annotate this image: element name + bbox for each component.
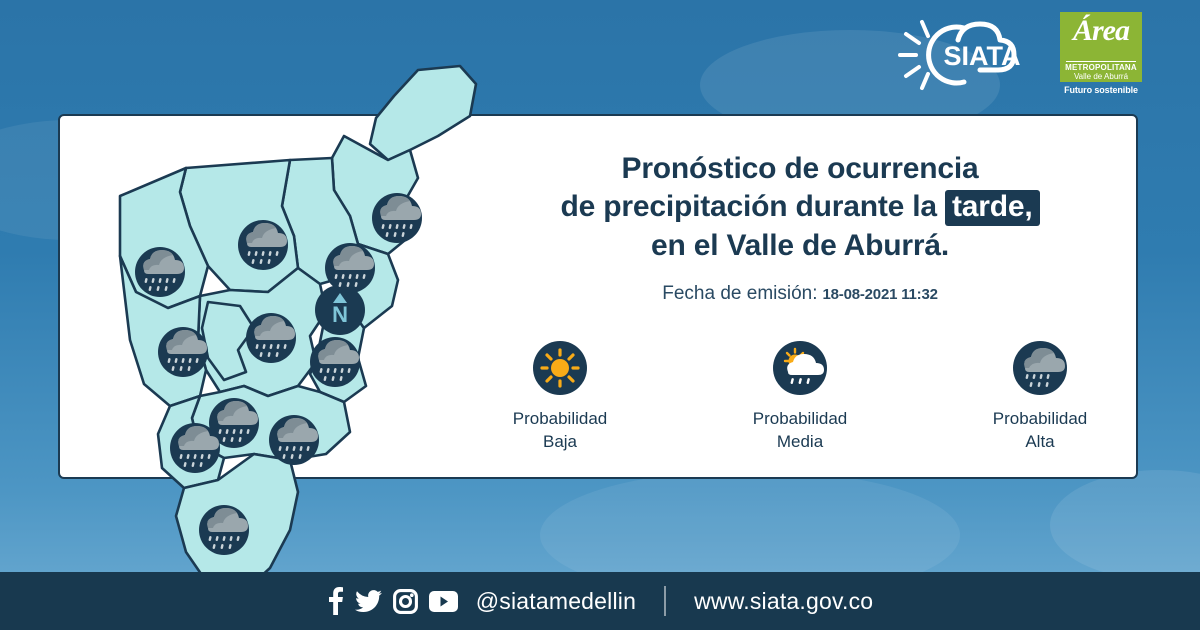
valle-de-aburra-map: N [58,40,478,600]
footer-divider [664,586,666,616]
social-icon-group [327,587,458,615]
map-marker-caldas [199,505,249,555]
probability-legend: Probabilidad Baja [490,341,1110,454]
map-marker-medellin [246,313,296,363]
title-line-1: Pronóstico de ocurrencia [490,150,1110,188]
logo-group: SIATA Área METROPOLITANA Valle de Aburrá… [894,12,1142,98]
legend-item-media: Probabilidad Media [730,341,870,454]
siata-sun-cloud-icon: SIATA [894,12,1044,98]
forecast-content: Pronóstico de ocurrencia de precipitació… [490,150,1110,454]
am-script-text: Área [1060,14,1142,48]
map-marker-la-estrella [170,423,220,473]
am-line1: METROPOLITANA [1060,63,1142,72]
issue-date: Fecha de emisión:18-08-2021 11:32 [490,283,1110,305]
map-marker-sabaneta [269,415,319,465]
sun-icon [533,341,587,395]
social-handle[interactable]: @siatamedellin [476,588,636,615]
compass-north: N [315,285,365,335]
title-line-2-text: de precipitación durante la [561,190,946,223]
rain-cloud-icon [1013,341,1067,395]
title-line-2: de precipitación durante la tarde, [490,188,1110,226]
siata-wordmark: SIATA [944,41,1021,71]
legend-label-alta: Probabilidad Alta [970,408,1110,454]
infographic-canvas: SIATA Área METROPOLITANA Valle de Aburrá… [0,0,1200,630]
map-marker-san-jeronimo [158,327,208,377]
legend-label-media: Probabilidad Media [730,408,870,454]
sky-cloud-decor-4 [1050,470,1200,580]
am-tagline: Futuro sostenible [1060,85,1142,95]
legend-baja-line2: Baja [490,431,630,454]
map-marker-copacabana [325,243,375,293]
siata-logo: SIATA [894,12,1044,98]
legend-item-alta: Probabilidad Alta [970,341,1110,454]
youtube-icon[interactable] [429,591,458,612]
compass-label: N [332,302,348,327]
period-highlight: tarde, [945,190,1040,226]
page-title: Pronóstico de ocurrencia de precipitació… [490,150,1110,265]
issue-date-label: Fecha de emisión: [662,283,817,304]
twitter-icon[interactable] [355,590,382,613]
map-marker-envigado [310,337,360,387]
footer-bar: @siatamedellin www.siata.gov.co [0,572,1200,630]
legend-baja-line1: Probabilidad [490,408,630,431]
am-divider [1066,61,1136,62]
sun-rain-cloud-icon [773,341,827,395]
am-green-box: Área METROPOLITANA Valle de Aburrá [1060,12,1142,82]
legend-alta-line1: Probabilidad [970,408,1110,431]
instagram-icon[interactable] [393,589,418,614]
title-line-3: en el Valle de Aburrá. [490,227,1110,265]
legend-media-line2: Media [730,431,870,454]
am-line2: Valle de Aburrá [1060,72,1142,81]
legend-label-baja: Probabilidad Baja [490,408,630,454]
legend-alta-line2: Alta [970,431,1110,454]
map-marker-bello [238,220,288,270]
map-marker-girardota [372,193,422,243]
legend-item-baja: Probabilidad Baja [490,341,630,454]
legend-media-line1: Probabilidad [730,408,870,431]
area-metropolitana-logo: Área METROPOLITANA Valle de Aburrá Futur… [1060,12,1142,95]
facebook-icon[interactable] [327,587,344,615]
map-svg: N [58,40,478,600]
map-marker-san-pedro [135,247,185,297]
website-url[interactable]: www.siata.gov.co [694,588,873,615]
issue-date-value: 18-08-2021 11:32 [823,286,938,303]
